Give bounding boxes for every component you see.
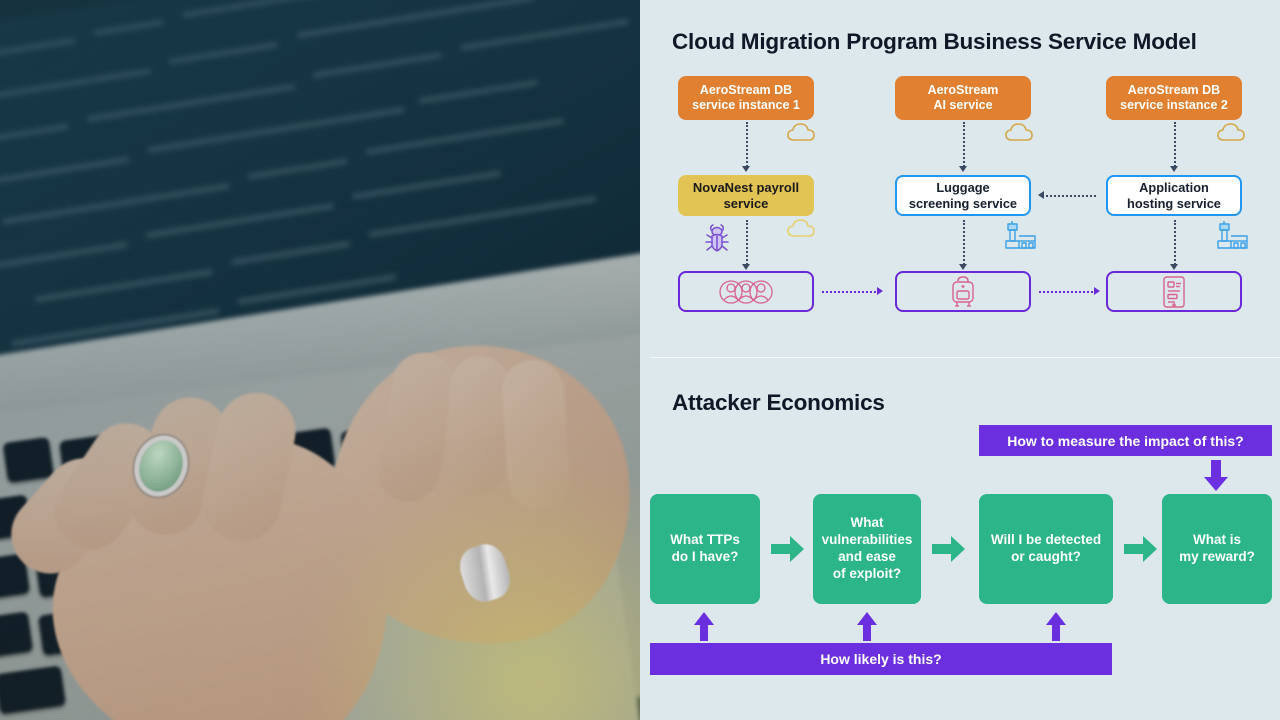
cloud-icon [786,216,818,240]
arrow-down-icon [1203,460,1229,492]
node-label-line1: AeroStream DB [692,83,800,98]
connector-payroll-to-passengers [746,220,748,265]
step-line1: Will I be detected [991,532,1101,549]
connector-luggage-to-baggage [963,220,965,265]
node-tablet[interactable] [1106,271,1242,312]
bug-icon [703,224,731,258]
step-line3: and ease [822,549,913,566]
node-passengers[interactable] [678,271,814,312]
section-divider [650,357,1280,358]
arrow-right-icon [932,536,966,562]
step-box-what-ttps[interactable]: What TTPs do I have? [650,494,760,604]
control-tower-icon [1004,220,1038,250]
connector-passengers-to-luggage [822,291,876,293]
step-box-will-i-be-detected[interactable]: Will I be detected or caught? [979,494,1113,604]
node-application-hosting-service[interactable]: Application hosting service [1106,175,1242,216]
node-aerostream-db-2[interactable]: AeroStream DB service instance 2 [1106,76,1242,120]
connector-luggage-to-tablet [1039,291,1093,293]
step-box-what-is-my-reward[interactable]: What is my reward? [1162,494,1272,604]
connector-arrow [1038,191,1044,199]
node-aerostream-ai[interactable]: AeroStream AI service [895,76,1031,120]
connector-ai-to-luggage [963,122,965,167]
likelihood-banner[interactable]: How likely is this? [650,643,1112,675]
arrow-up-icon [693,612,715,642]
connector-arrow [1170,264,1178,270]
arrow-right-icon [1124,536,1158,562]
connector-arrow [959,264,967,270]
cloud-icon [786,120,818,144]
step-line2: my reward? [1179,549,1255,566]
step-line1: What is [1179,532,1255,549]
node-label-line1: Application [1127,180,1221,195]
connector-db2-to-apphosting [1174,122,1176,167]
node-label-line2: AI service [928,98,999,113]
node-label-line1: NovaNest payroll [693,180,799,195]
node-label-line1: AeroStream [928,83,999,98]
connector-db1-to-payroll [746,122,748,167]
step-line1: What TTPs [670,532,740,549]
node-label-line1: Luggage [909,180,1017,195]
node-novanest-payroll-service[interactable]: NovaNest payroll service [678,175,814,216]
step-line4: of exploit? [822,566,913,583]
step-line2: vulnerabilities [822,532,913,549]
connector-apphosting-to-luggage [1046,195,1096,197]
step-line2: do I have? [670,549,740,566]
node-label-line2: service instance 1 [692,98,800,113]
passengers-icon [718,278,774,306]
laptop-photo [0,0,640,720]
node-aerostream-db-1[interactable]: AeroStream DB service instance 1 [678,76,814,120]
connector-arrow [1094,287,1100,295]
connector-arrow [742,264,750,270]
node-luggage-screening-service[interactable]: Luggage screening service [895,175,1031,216]
connector-arrow [742,166,750,172]
tablet-icon [1161,275,1187,309]
control-tower-icon [1216,220,1250,250]
node-label-line2: hosting service [1127,196,1221,211]
page-title-attacker-economics: Attacker Economics [672,390,885,416]
connector-arrow [1170,166,1178,172]
page-title-business-service-model: Cloud Migration Program Business Service… [672,29,1197,55]
step-box-what-vulnerabilities[interactable]: What vulnerabilities and ease of exploit… [813,494,921,604]
cloud-icon [1004,120,1036,144]
impact-banner[interactable]: How to measure the impact of this? [979,425,1272,456]
connector-arrow [877,287,883,295]
node-label-line2: service instance 2 [1120,98,1228,113]
photo-color-tint [0,0,640,720]
arrow-right-icon [771,536,805,562]
step-line1: What [822,515,913,532]
arrow-up-icon [856,612,878,642]
connector-apphosting-to-tablet [1174,220,1176,265]
node-label-line2: screening service [909,196,1017,211]
luggage-icon [948,275,978,309]
arrow-up-icon [1045,612,1067,642]
connector-arrow [959,166,967,172]
node-label-line1: AeroStream DB [1120,83,1228,98]
cloud-icon [1216,120,1248,144]
node-label-line2: service [693,196,799,211]
node-luggage-item[interactable] [895,271,1031,312]
slide-canvas: Cloud Migration Program Business Service… [0,0,1280,720]
step-line2: or caught? [991,549,1101,566]
